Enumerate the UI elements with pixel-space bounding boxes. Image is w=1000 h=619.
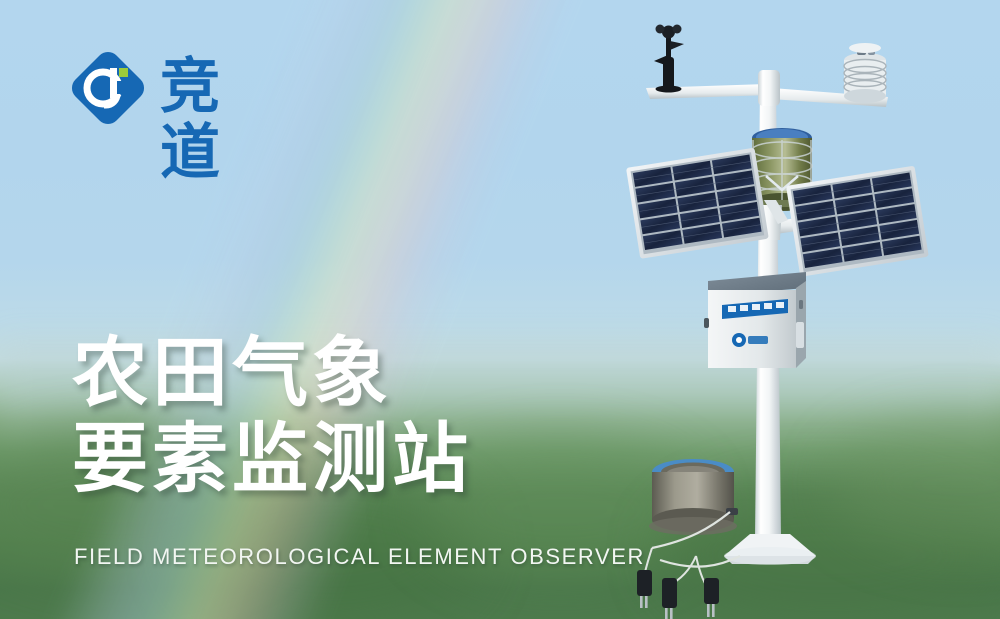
brand-name: 竞道 [160,54,288,186]
controller-box [704,272,806,368]
page-title: 农田气象 要素监测站 [72,330,612,502]
headline-line-2: 要素监测站 [72,416,612,502]
jingdao-diamond-logo-icon [68,48,148,128]
base-plate [724,534,816,565]
weather-station-illustration [600,0,1000,619]
promotional-banner: 竞道 农田气象 要素监测站 FIELD METEOROLOGICAL ELEME… [0,0,1000,619]
headline-line-1: 农田气象 [72,330,612,416]
subtitle: FIELD METEOROLOGICAL ELEMENT OBSERVER [74,544,645,570]
soil-probe [662,578,677,619]
anemometer-icon [654,25,684,93]
radiation-shield-icon [844,43,886,103]
soil-probe [704,578,719,617]
soil-probe [637,570,652,608]
rain-gauge [649,459,738,535]
brand-logo: 竞道 [68,44,288,130]
solar-panel-left [626,148,769,259]
